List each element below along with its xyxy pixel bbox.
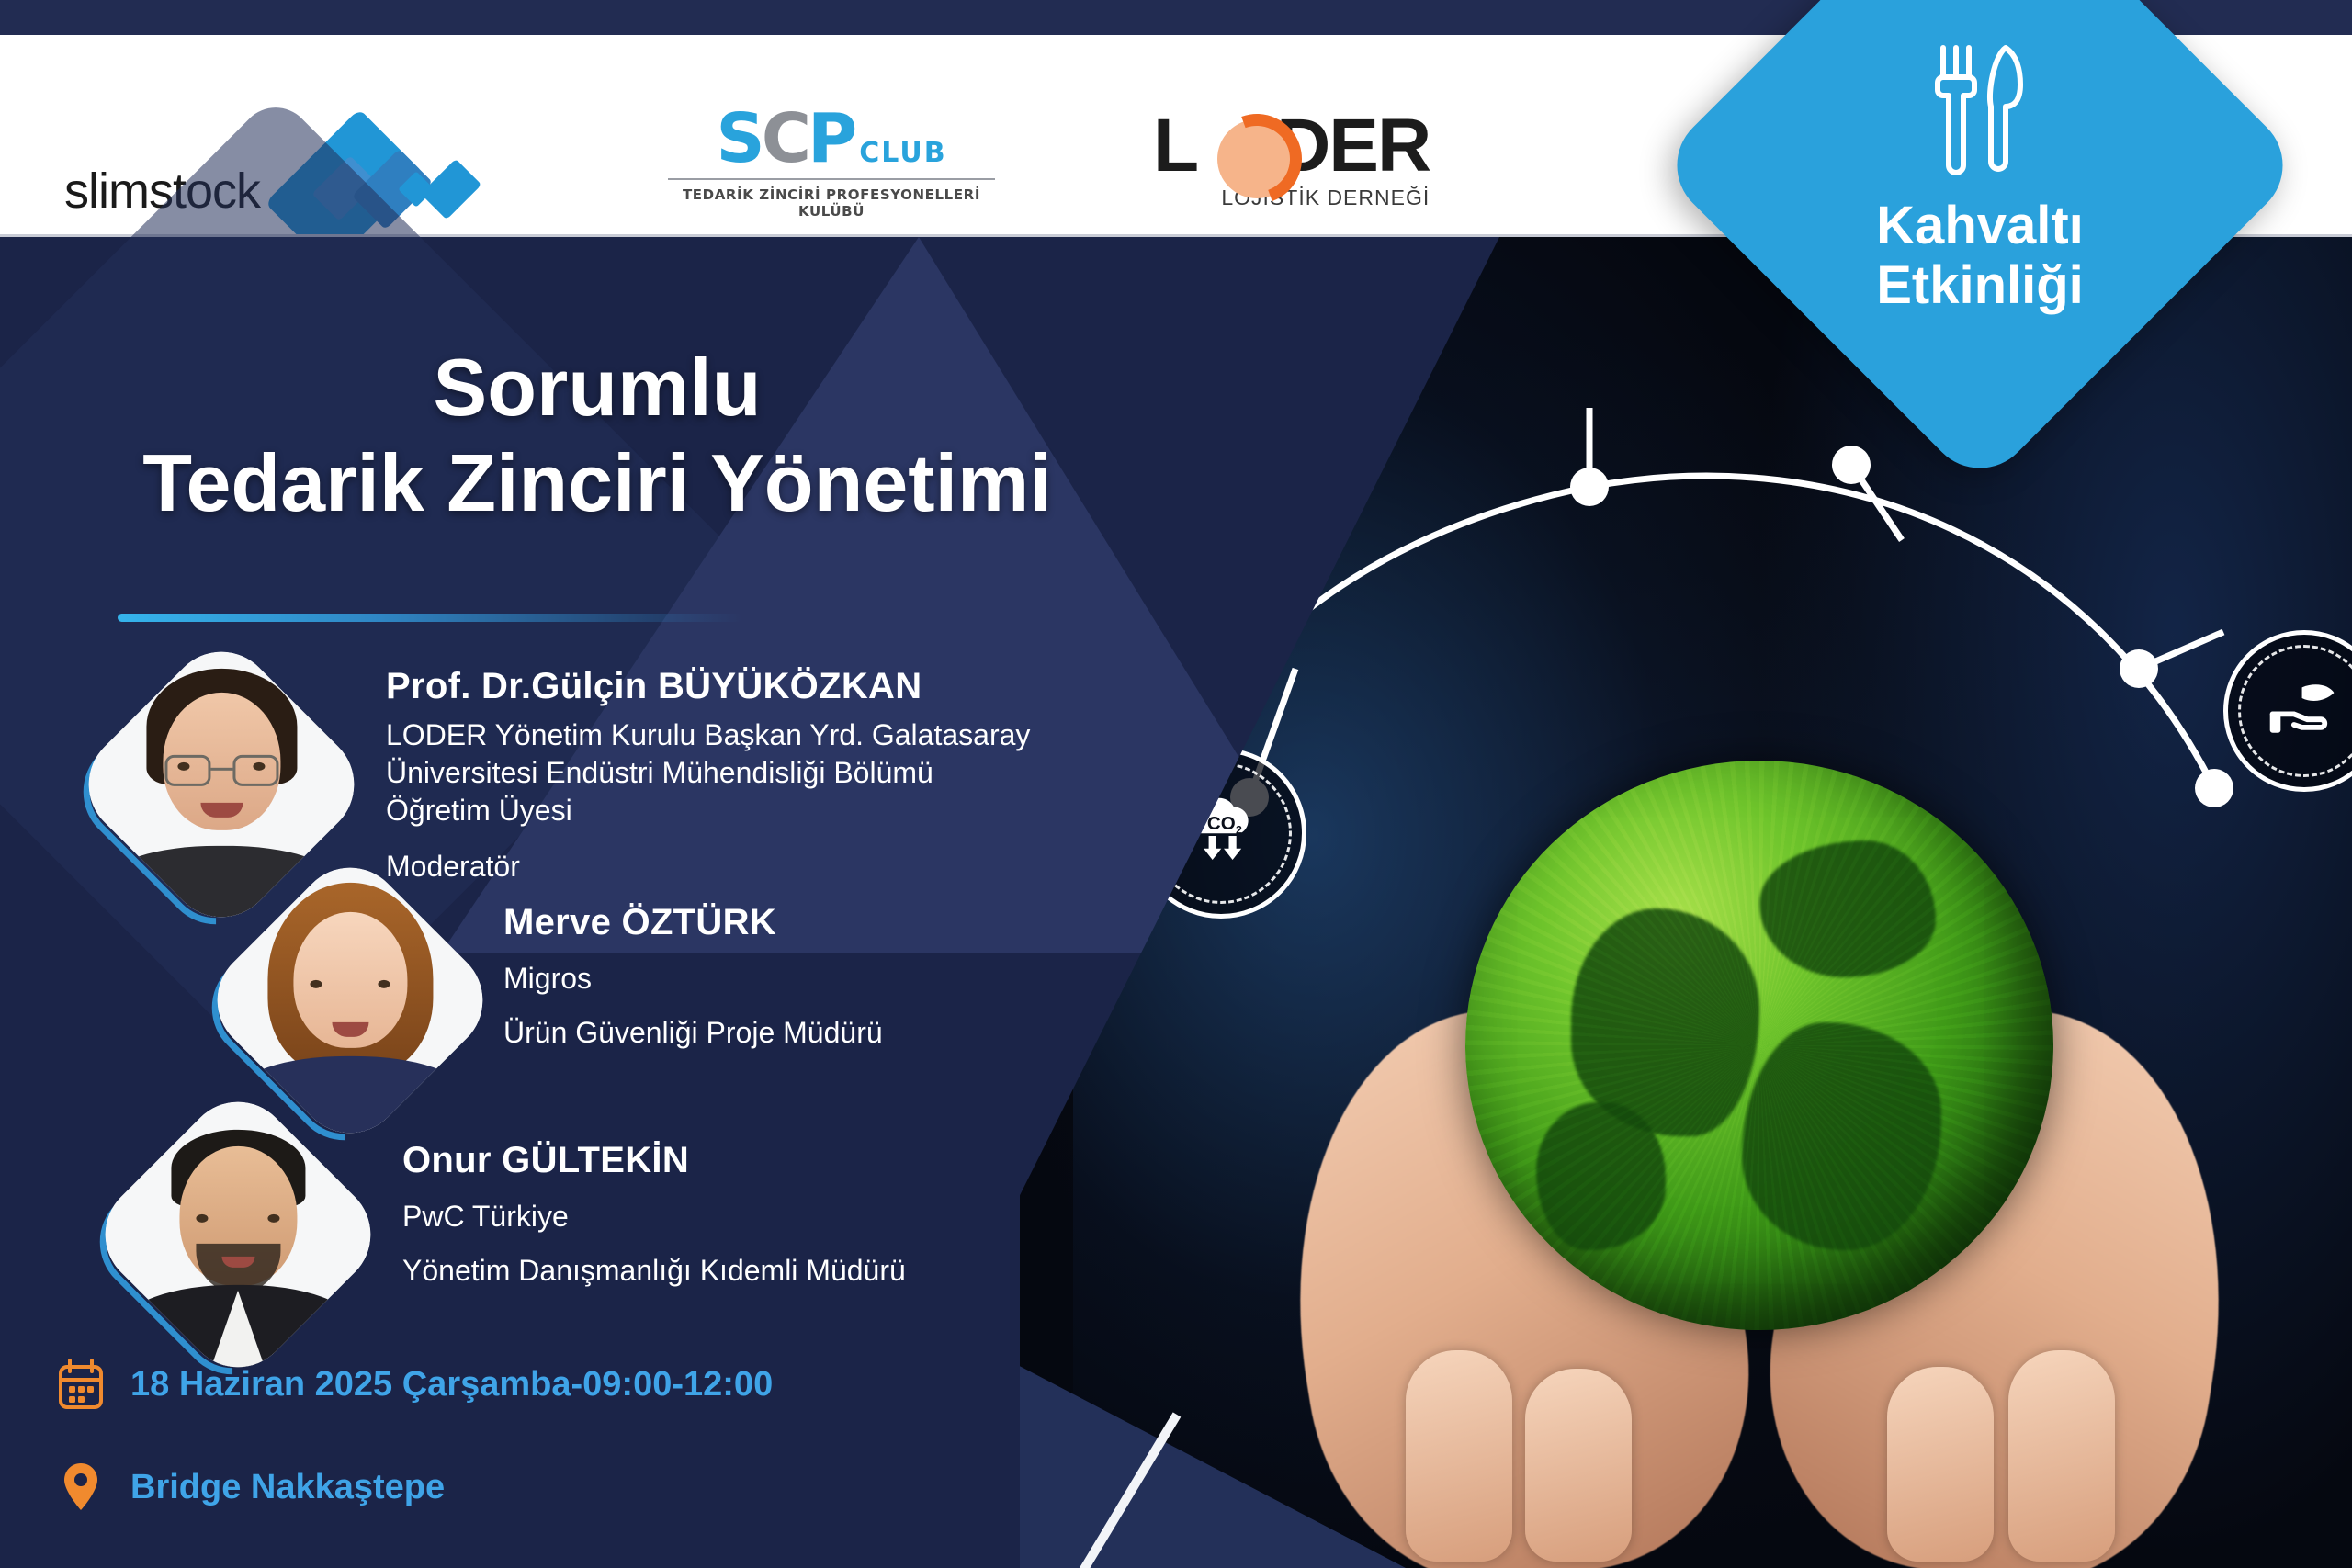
event-date-row: 18 Haziran 2025 Çarşamba-09:00-12:00 [57,1358,773,1411]
title-line-2: Tedarik Zinciri Yönetimi [55,435,1139,531]
kahvalti-badge: Kahvaltı Etkinliği [1750,0,2210,395]
event-location-row: Bridge Nakkaştepe [57,1461,445,1514]
badge-line-1: Kahvaltı [1876,196,2084,255]
speaker-desc-line-1: PwC Türkiye [402,1198,906,1235]
loder-orb-icon [1217,119,1296,198]
green-grass-globe [1465,761,2053,1330]
hands-holding-globe-image [1295,751,2223,1568]
title-underline [118,614,742,622]
title-line-1: Sorumlu [55,340,1139,435]
speaker-name: Merve ÖZTÜRK [503,902,883,943]
map-pin-icon [57,1461,105,1514]
scp-divider [668,178,995,180]
loder-logo: LDER LOJİSTİK DERNEĞİ [1153,108,1430,210]
event-location: Bridge Nakkaştepe [130,1468,445,1507]
speaker-desc-line-2: Üniversitesi Endüstri Mühendisliği Bölüm… [386,754,1030,792]
speaker-info: Prof. Dr.Gülçin BÜYÜKÖZKAN LODER Yönetim… [386,666,1030,884]
fork-and-knife-icon [1925,37,2035,184]
speaker-info: Onur GÜLTEKİN PwC Türkiye Yönetim Danışm… [402,1140,906,1290]
event-poster: slimstock SCPCLUB TEDARİK ZİNCİRİ PROFES… [0,0,2352,1568]
calendar-icon [57,1358,105,1411]
speaker-desc-line-1: LODER Yönetim Kurulu Başkan Yrd. Galatas… [386,716,1030,754]
scp-tagline: TEDARİK ZİNCİRİ PROFESYONELLERİ KULÜBÜ [666,186,997,220]
speaker-role: Moderatör [386,850,1030,884]
scp-wordmark: SCPCLUB [666,107,997,171]
badge-line-2: Etkinliği [1876,255,2084,315]
speaker-desc-line-3: Öğretim Üyesi [386,792,1030,829]
kahvalti-badge-text: Kahvaltı Etkinliği [1876,197,2084,316]
speaker-name: Onur GÜLTEKİN [402,1140,906,1181]
svg-text:2: 2 [1236,823,1242,836]
speaker-desc-line-1: Migros [503,960,883,998]
speaker-desc-line-2: Ürün Güvenliği Proje Müdürü [503,1014,883,1052]
scp-club-word: CLUB [859,141,946,167]
speaker-desc-line-2: Yönetim Danışmanlığı Kıdemli Müdürü [402,1252,906,1290]
event-date: 18 Haziran 2025 Çarşamba-09:00-12:00 [130,1365,773,1404]
loder-wordmark: LDER [1153,108,1430,184]
page-title: Sorumlu Tedarik Zinciri Yönetimi [55,340,1139,531]
svg-text:CO: CO [1207,813,1236,834]
scp-club-logo: SCPCLUB TEDARİK ZİNCİRİ PROFESYONELLERİ … [666,107,997,220]
speaker-info: Merve ÖZTÜRK Migros Ürün Güvenliği Proje… [503,902,883,1052]
speaker-name: Prof. Dr.Gülçin BÜYÜKÖZKAN [386,666,1030,707]
